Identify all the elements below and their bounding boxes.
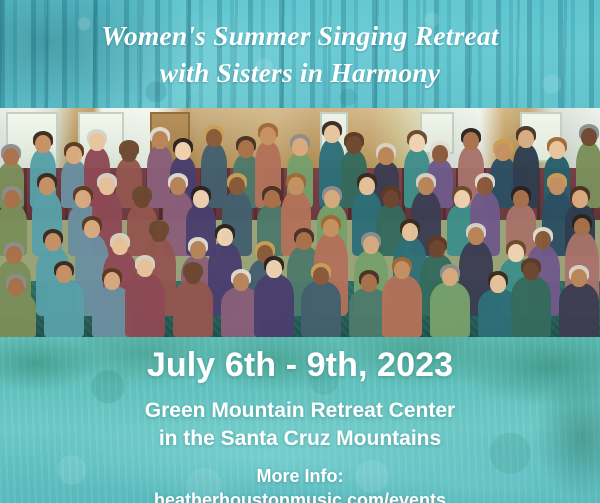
- venue-line-1: Green Mountain Retreat Center: [145, 397, 455, 425]
- photo-person: [559, 283, 599, 337]
- photo-person: [301, 281, 341, 337]
- event-dates: July 6th - 9th, 2023: [147, 346, 453, 385]
- photo-person: [430, 282, 470, 337]
- title-line-2: with Sisters in Harmony: [160, 55, 440, 90]
- photo-person: [44, 279, 84, 337]
- group-photo: 2022 Retreat Sisters IN HARMONY: [0, 108, 600, 337]
- more-info-url[interactable]: heatherhoustonmusic.com/events: [154, 488, 446, 503]
- photo-person: [125, 273, 165, 337]
- photo-people-row-seated: [0, 258, 600, 337]
- title-line-1: Women's Summer Singing Retreat: [101, 18, 498, 53]
- event-venue: Green Mountain Retreat Center in the San…: [145, 397, 455, 452]
- photo-person: [0, 292, 36, 337]
- photo-person: [382, 275, 422, 337]
- poster-header: Women's Summer Singing Retreat with Sist…: [0, 0, 600, 108]
- footer-details: July 6th - 9th, 2023 Green Mountain Retr…: [0, 337, 600, 503]
- poster-footer: July 6th - 9th, 2023 Green Mountain Retr…: [0, 337, 600, 503]
- more-info-label: More Info:: [257, 464, 344, 488]
- photo-person: [254, 274, 294, 337]
- poster-title: Women's Summer Singing Retreat with Sist…: [0, 0, 600, 108]
- photo-person: [173, 280, 213, 337]
- event-poster: Women's Summer Singing Retreat with Sist…: [0, 0, 600, 503]
- photo-person: [511, 276, 551, 337]
- venue-line-2: in the Santa Cruz Mountains: [145, 425, 455, 453]
